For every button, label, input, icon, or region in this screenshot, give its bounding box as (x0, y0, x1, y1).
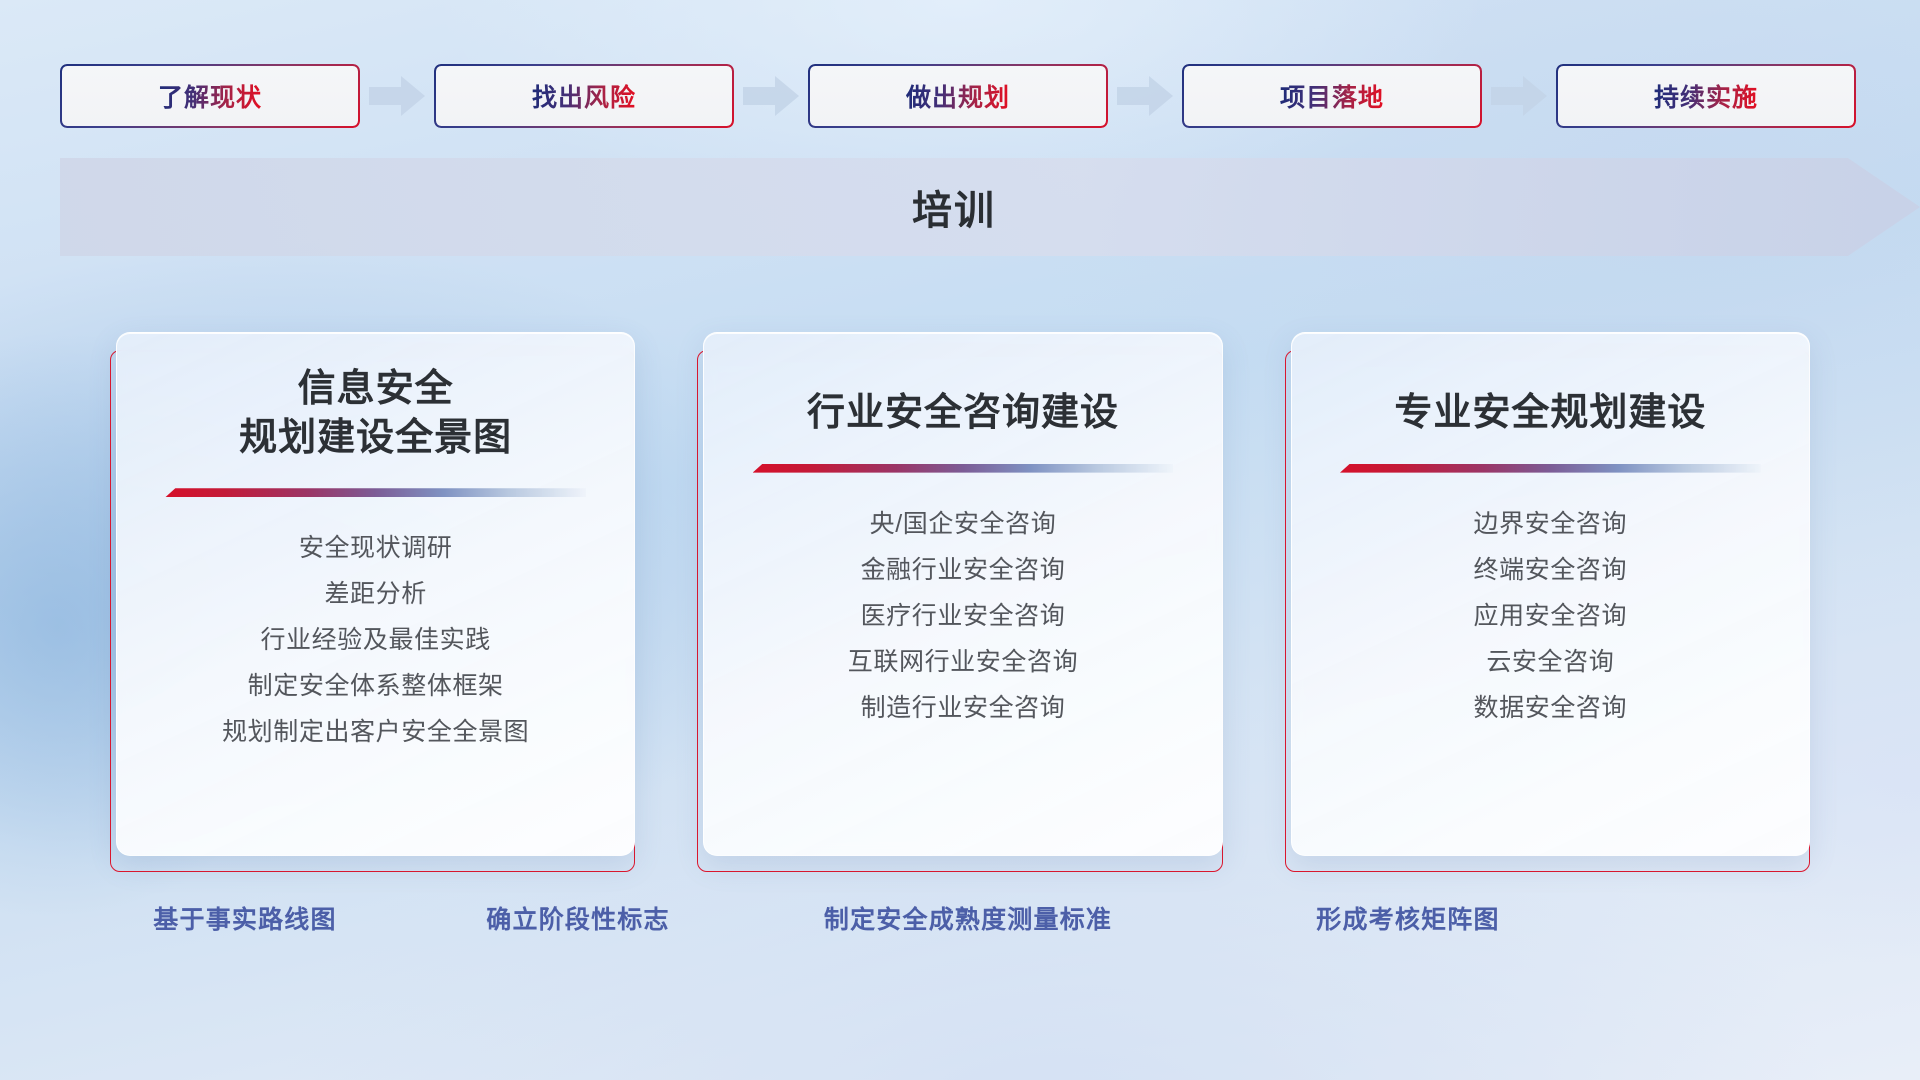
step-label-1: 了解现状 (158, 78, 262, 114)
list-item: 医疗行业安全咨询 (861, 601, 1066, 631)
card-3-title: 专业安全规划建设 (1322, 333, 1779, 438)
list-item: 差距分析 (324, 579, 426, 609)
card-3-divider (1340, 464, 1761, 473)
list-item: 行业经验及最佳实践 (260, 625, 490, 655)
card-1-title-line-2: 规划建设全景图 (147, 414, 604, 463)
card-3-title-line-1: 专业安全规划建设 (1322, 389, 1779, 438)
step-box-4[interactable]: 项目落地 (1182, 64, 1482, 128)
step-box-2[interactable]: 找出风险 (434, 64, 734, 128)
list-item: 应用安全咨询 (1474, 601, 1628, 631)
card-2[interactable]: 行业安全咨询建设 央/国企安全咨询 金融行业安全咨询 医疗行业安全咨询 互联网行… (697, 332, 1222, 872)
list-item: 安全现状调研 (299, 533, 453, 563)
bottom-label-2: 确立阶段性标志 (486, 900, 669, 936)
card-3-list: 边界安全咨询 终端安全咨询 应用安全咨询 云安全咨询 数据安全咨询 (1322, 509, 1779, 723)
list-item: 云安全咨询 (1486, 647, 1614, 677)
bottom-label-row: 基于事实路线图 确立阶段性标志 制定安全成熟度测量标准 形成考核矩阵图 (0, 900, 1920, 960)
step-label-2: 找出风险 (532, 78, 636, 114)
card-1-title-line-1: 信息安全 (147, 365, 604, 414)
step-label-3: 做出规划 (906, 78, 1010, 114)
step-label-5: 持续实施 (1654, 78, 1758, 114)
step-box-5[interactable]: 持续实施 (1556, 64, 1856, 128)
step-box-1[interactable]: 了解现状 (60, 64, 360, 128)
banner-title: 培训 (60, 158, 1920, 256)
list-item: 央/国企安全咨询 (870, 509, 1057, 539)
card-2-title-line-1: 行业安全咨询建设 (734, 389, 1191, 438)
list-item: 边界安全咨询 (1474, 509, 1628, 539)
list-item: 互联网行业安全咨询 (848, 647, 1078, 677)
card-2-title: 行业安全咨询建设 (734, 333, 1191, 438)
list-item: 金融行业安全咨询 (861, 555, 1066, 585)
card-1-divider (165, 488, 586, 497)
bottom-label-1: 基于事实路线图 (153, 900, 336, 936)
card-1-body: 信息安全 规划建设全景图 安全现状调研 差距分析 行业经验及最佳实践 制定安全体… (116, 332, 635, 856)
bottom-label-4: 形成考核矩阵图 (1316, 900, 1499, 936)
card-3[interactable]: 专业安全规划建设 边界安全咨询 终端安全咨询 应用安全咨询 云安全咨询 数据安全… (1285, 332, 1810, 872)
list-item: 规划制定出客户安全全景图 (222, 717, 529, 747)
slide-canvas: 了解现状 找出风险 做出规划 项目落地 (0, 0, 1920, 1080)
list-item: 制造行业安全咨询 (861, 693, 1066, 723)
step-arrow-3 (1108, 73, 1182, 119)
list-item: 终端安全咨询 (1474, 555, 1628, 585)
process-step-row: 了解现状 找出风险 做出规划 项目落地 (60, 62, 1860, 130)
step-box-3[interactable]: 做出规划 (808, 64, 1108, 128)
card-2-divider (753, 464, 1174, 473)
card-row: 信息安全 规划建设全景图 安全现状调研 差距分析 行业经验及最佳实践 制定安全体… (110, 332, 1810, 872)
card-1[interactable]: 信息安全 规划建设全景图 安全现状调研 差距分析 行业经验及最佳实践 制定安全体… (110, 332, 635, 872)
card-3-body: 专业安全规划建设 边界安全咨询 终端安全咨询 应用安全咨询 云安全咨询 数据安全… (1291, 332, 1810, 856)
step-arrow-2 (734, 73, 808, 119)
card-2-body: 行业安全咨询建设 央/国企安全咨询 金融行业安全咨询 医疗行业安全咨询 互联网行… (703, 332, 1222, 856)
card-2-list: 央/国企安全咨询 金融行业安全咨询 医疗行业安全咨询 互联网行业安全咨询 制造行… (734, 509, 1191, 723)
step-label-4: 项目落地 (1280, 78, 1384, 114)
bottom-label-3: 制定安全成熟度测量标准 (824, 900, 1112, 936)
step-arrow-4 (1482, 73, 1556, 119)
list-item: 数据安全咨询 (1474, 693, 1628, 723)
card-1-title: 信息安全 规划建设全景图 (147, 333, 604, 462)
step-arrow-1 (360, 73, 434, 119)
training-banner: 培训 (60, 158, 1920, 256)
list-item: 制定安全体系整体框架 (248, 671, 504, 701)
card-1-list: 安全现状调研 差距分析 行业经验及最佳实践 制定安全体系整体框架 规划制定出客户… (147, 533, 604, 747)
